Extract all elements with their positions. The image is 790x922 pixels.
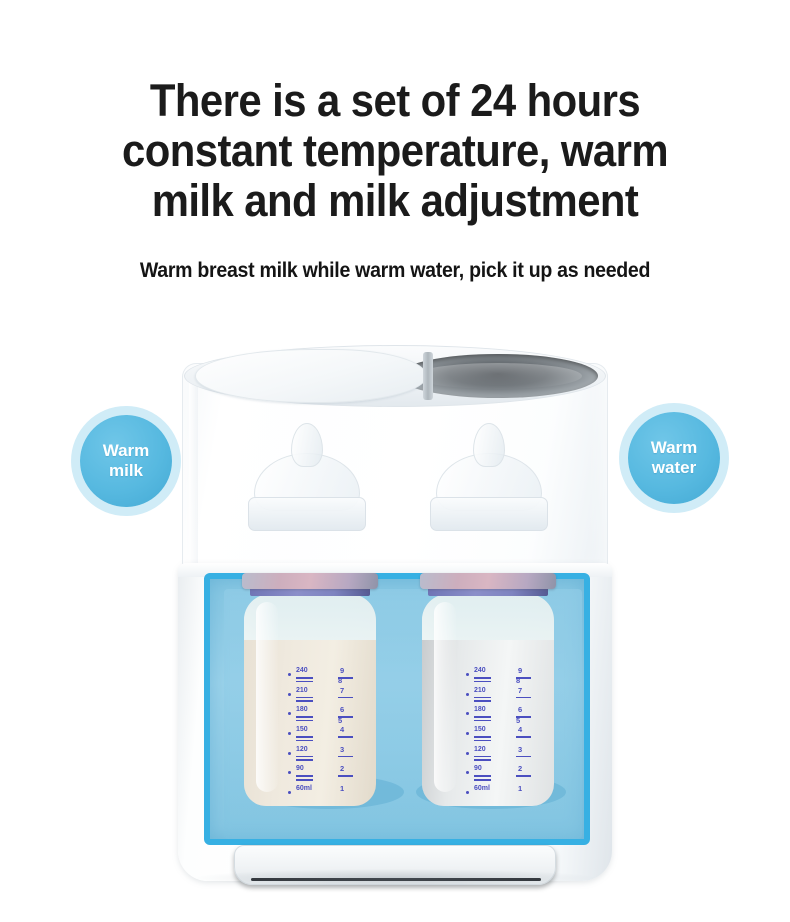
scale-dot [288, 693, 291, 696]
scale-oz-label: 5 [516, 717, 520, 725]
bottle-left-scale: 240 9 210 8 7 [288, 666, 374, 804]
scale-dot [466, 712, 469, 715]
lid-flap [195, 349, 427, 403]
scale-dot [288, 673, 291, 676]
scale-tick [296, 720, 313, 722]
teat-collar-icon [430, 497, 548, 531]
scale-oz-label: 4 [518, 726, 522, 734]
scale-ml-label: 240 [296, 667, 308, 675]
scale-oz-label: 7 [340, 687, 344, 695]
product-shadow [196, 869, 594, 887]
scale-tick [296, 681, 313, 683]
page-title: There is a set of 24 hours constant temp… [28, 76, 763, 226]
teat-tip-icon [473, 423, 505, 467]
scale-oz-tick [338, 736, 353, 738]
scale-tick [296, 756, 313, 758]
scale-ml-label: 210 [296, 687, 308, 695]
badge-warm-milk: Warm milk [80, 415, 172, 507]
bottle-right-cap-disc [420, 573, 556, 589]
scale-tick [474, 697, 491, 699]
scale-oz-label: 5 [338, 717, 342, 725]
lid-hinge-icon [423, 352, 433, 400]
scale-oz-tick [338, 775, 353, 777]
scale-oz-label: 3 [518, 746, 522, 754]
badge-warm-milk-line-1: Warm [103, 441, 150, 461]
scale-tick [474, 759, 491, 761]
scale-oz-label: 1 [340, 785, 344, 793]
bottle-left-cap-disc [242, 573, 378, 589]
scale-tick [296, 677, 313, 679]
scale-dot [466, 771, 469, 774]
scale-oz-label: 6 [340, 706, 344, 714]
scale-tick [474, 720, 491, 722]
scale-tick [474, 700, 491, 702]
scale-tick [296, 716, 313, 718]
scale-dot [288, 771, 291, 774]
scale-tick [296, 736, 313, 738]
scale-oz-label: 9 [518, 667, 522, 675]
scale-ml-label: 90 [296, 765, 304, 773]
scale-oz-tick [516, 756, 531, 758]
bottle-teat-left [248, 423, 366, 535]
bottle-right-scale: 240 9 210 8 7 [466, 666, 552, 804]
scale-dot [466, 732, 469, 735]
badge-warm-water: Warm water [628, 412, 720, 504]
scale-ml-label: 240 [474, 667, 486, 675]
bottle-right-glass: 240 9 210 8 7 [422, 594, 554, 806]
page-subtitle: Warm breast milk while warm water, pick … [28, 258, 763, 284]
scale-ml-label: 90 [474, 765, 482, 773]
scale-ml-label: 150 [296, 726, 308, 734]
scale-dot [466, 673, 469, 676]
scale-ml-label: 150 [474, 726, 486, 734]
scale-tick [474, 756, 491, 758]
scale-oz-tick [516, 736, 531, 738]
headline-line-2: constant temperature, warm [28, 126, 763, 176]
scale-tick [296, 775, 313, 777]
product-banner: There is a set of 24 hours constant temp… [0, 0, 790, 922]
scale-tick [474, 736, 491, 738]
scale-tick [474, 740, 491, 742]
scale-tick [296, 697, 313, 699]
scale-ml-label: 180 [296, 706, 308, 714]
bottle-left-highlight [256, 602, 278, 792]
scale-oz-label: 2 [518, 765, 522, 773]
scale-oz-label: 3 [340, 746, 344, 754]
scale-oz-label: 2 [340, 765, 344, 773]
scale-oz-label: 6 [518, 706, 522, 714]
scale-tick [296, 740, 313, 742]
scale-ml-label: 210 [474, 687, 486, 695]
scale-dot [288, 732, 291, 735]
bottle-teat-right [430, 423, 548, 535]
headline-line-3: milk and milk adjustment [28, 176, 763, 226]
teat-tip-icon [291, 423, 323, 467]
scale-dot [288, 712, 291, 715]
scale-oz-label: 7 [518, 687, 522, 695]
badge-warm-water-line-1: Warm [651, 438, 698, 458]
scale-oz-label: 9 [340, 667, 344, 675]
scale-oz-label: 8 [338, 677, 342, 685]
scale-dot [466, 752, 469, 755]
bottle-left-glass: 240 9 210 8 7 [244, 594, 376, 806]
scale-tick [296, 700, 313, 702]
scale-tick [474, 681, 491, 683]
scale-tick [474, 716, 491, 718]
scale-dot [466, 693, 469, 696]
scale-oz-tick [516, 775, 531, 777]
bottle-right-highlight [434, 602, 456, 792]
scale-ml-label: 120 [296, 746, 308, 754]
scale-dot [466, 791, 469, 794]
scale-ml-label: 60ml [474, 785, 490, 793]
scale-ml-label: 120 [474, 746, 486, 754]
scale-tick [474, 775, 491, 777]
scale-tick [474, 779, 491, 781]
scale-oz-label: 8 [516, 677, 520, 685]
teat-collar-icon [248, 497, 366, 531]
scale-ml-label: 180 [474, 706, 486, 714]
scale-dot [288, 791, 291, 794]
scale-oz-label: 1 [518, 785, 522, 793]
scale-ml-label: 60ml [296, 785, 312, 793]
lid-top-ellipse [184, 345, 606, 407]
headline-line-1: There is a set of 24 hours [28, 76, 763, 126]
scale-tick [474, 677, 491, 679]
scale-tick [296, 779, 313, 781]
scale-oz-tick [338, 697, 353, 699]
bottle-right: 240 9 210 8 7 [412, 573, 564, 809]
scale-tick [296, 759, 313, 761]
scale-oz-tick [516, 697, 531, 699]
badge-warm-milk-line-2: milk [109, 461, 143, 481]
scale-oz-label: 4 [340, 726, 344, 734]
product-image: 240 9 210 8 7 [178, 345, 612, 900]
bottle-left: 240 9 210 8 7 [234, 573, 386, 809]
scale-oz-tick [338, 756, 353, 758]
badge-warm-water-line-2: water [652, 458, 696, 478]
scale-dot [288, 752, 291, 755]
